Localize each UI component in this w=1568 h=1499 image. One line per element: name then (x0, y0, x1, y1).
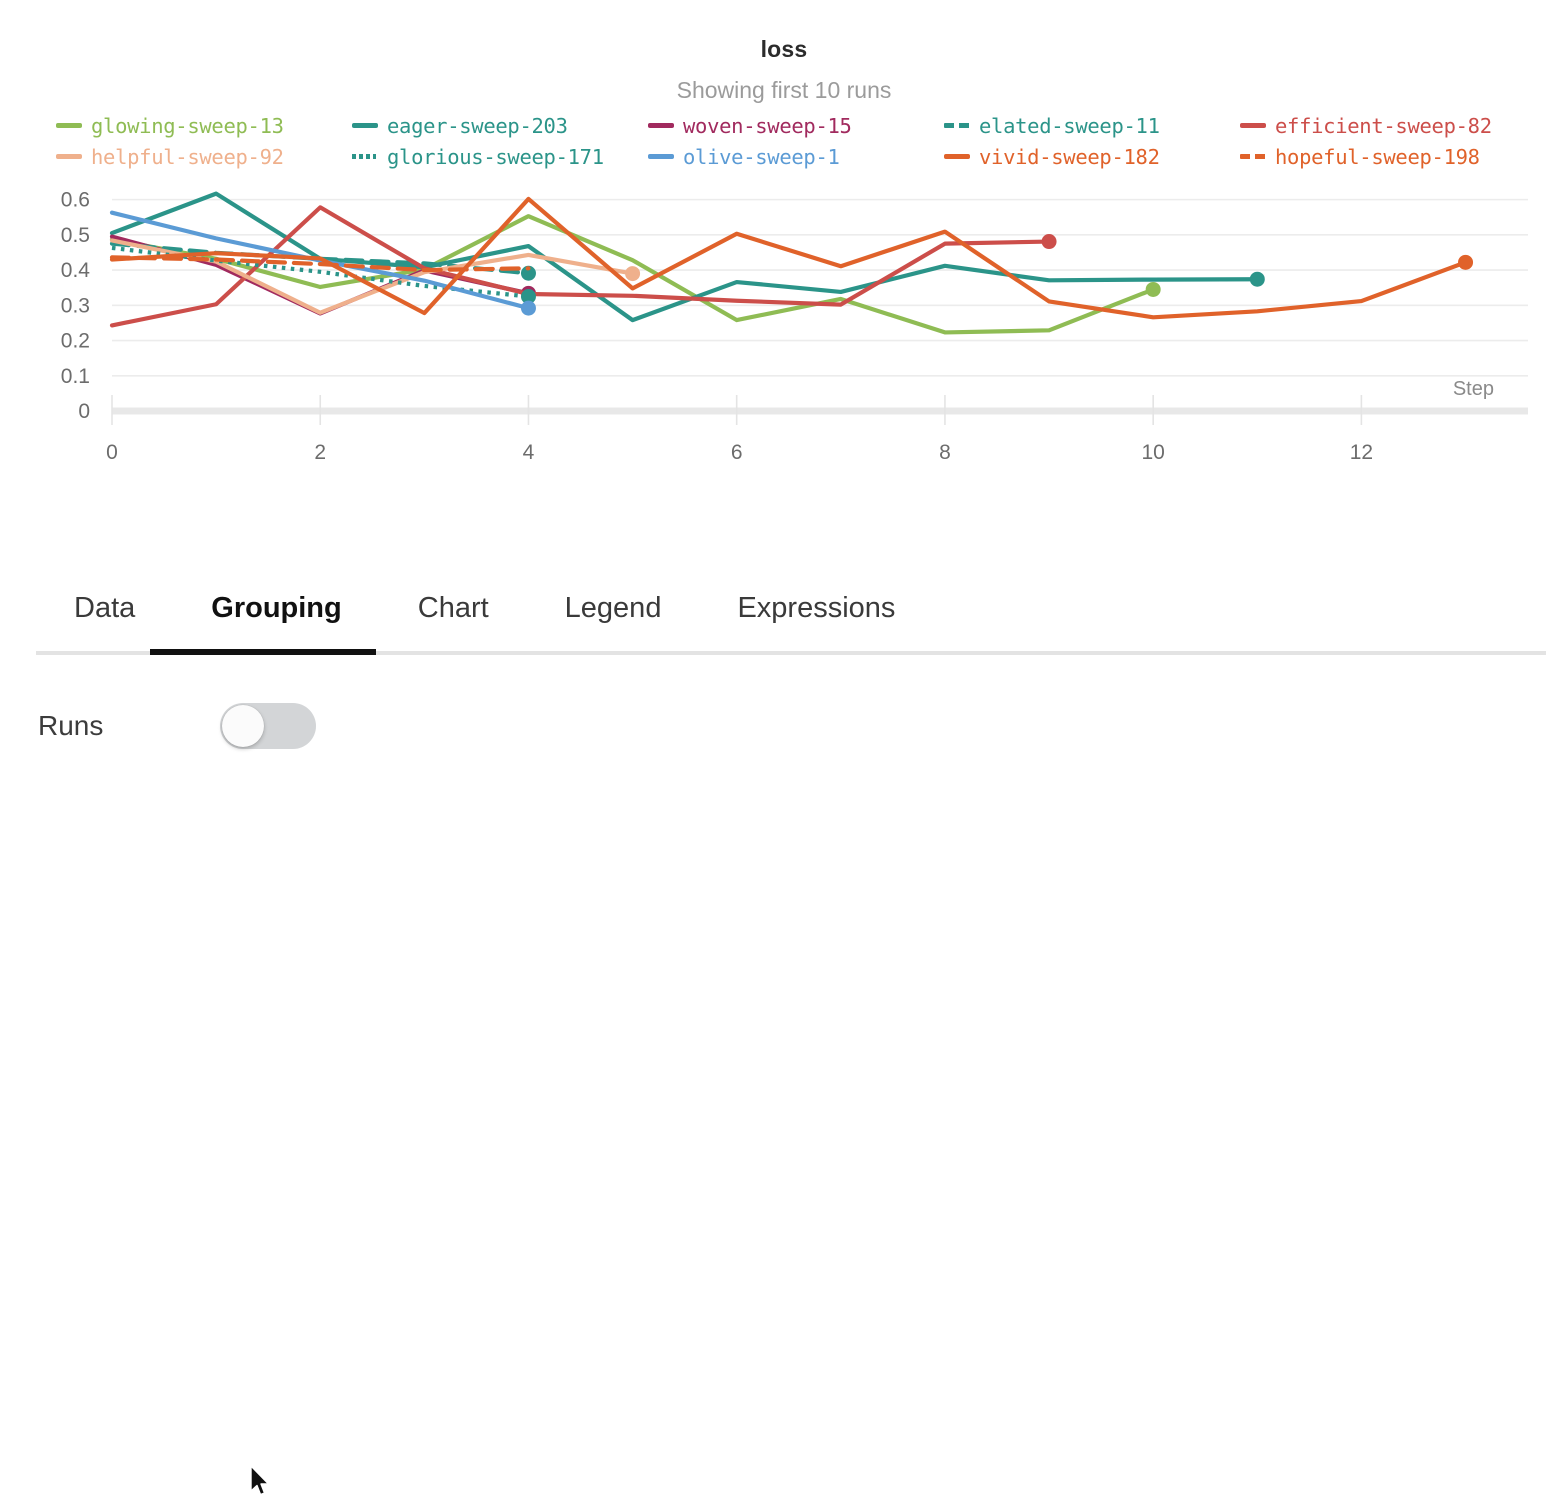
chart-panel: loss Showing first 10 runs glowing-sweep… (0, 0, 1568, 500)
legend-color-swatch (352, 123, 378, 128)
legend-item-label: elated-sweep-11 (979, 114, 1160, 138)
legend-color-swatch (648, 123, 674, 128)
mouse-cursor-icon (249, 1465, 271, 1499)
legend-color-swatch (56, 154, 82, 159)
tab-chart[interactable]: Chart (380, 565, 527, 651)
legend-item[interactable]: glorious-sweep-171 (352, 145, 648, 169)
legend-item[interactable]: woven-sweep-15 (648, 114, 944, 138)
series-endpoint-marker (1042, 234, 1057, 249)
legend-item-label: olive-sweep-1 (683, 145, 840, 169)
x-tick-label: 6 (731, 441, 743, 460)
y-tick-label: 0.3 (61, 294, 90, 317)
legend-item[interactable]: efficient-sweep-82 (1240, 114, 1536, 138)
legend-color-swatch (944, 154, 970, 159)
y-tick-label: 0.2 (61, 330, 90, 353)
settings-tabs-bar: DataGroupingChartLegendExpressions (0, 565, 1568, 660)
x-tick-label: 8 (939, 441, 951, 460)
tab-data[interactable]: Data (36, 565, 173, 651)
series-endpoint-marker (625, 266, 640, 281)
tab-legend[interactable]: Legend (527, 565, 700, 651)
series-endpoint-marker (1250, 272, 1265, 287)
legend-color-swatch (944, 123, 970, 128)
x-tick-label: 12 (1350, 441, 1373, 460)
runs-group-toggle[interactable] (220, 703, 316, 749)
legend-color-swatch (352, 154, 378, 159)
y-tick-label: 0.4 (61, 259, 91, 282)
x-axis-label: Step (1453, 378, 1494, 400)
legend-item[interactable]: helpful-sweep-92 (56, 145, 352, 169)
toggle-knob (222, 705, 264, 747)
x-tick-label: 10 (1141, 441, 1164, 460)
legend-color-swatch (648, 154, 674, 159)
series-endpoint-marker (521, 301, 536, 316)
chart-subtitle: Showing first 10 runs (0, 77, 1568, 104)
tab-expressions[interactable]: Expressions (699, 565, 933, 651)
series-endpoint-marker (1458, 255, 1473, 270)
legend-item[interactable]: elated-sweep-11 (944, 114, 1240, 138)
legend-item[interactable]: eager-sweep-203 (352, 114, 648, 138)
legend-color-swatch (1240, 123, 1266, 128)
legend-item[interactable]: hopeful-sweep-198 (1240, 145, 1536, 169)
y-tick-label: 0.6 (61, 189, 90, 212)
y-tick-label: 0.1 (61, 365, 90, 388)
legend-item[interactable]: glowing-sweep-13 (56, 114, 352, 138)
x-tick-label: 0 (106, 441, 118, 460)
legend-item-label: efficient-sweep-82 (1275, 114, 1492, 138)
legend-item-label: vivid-sweep-182 (979, 145, 1160, 169)
legend-item-label: hopeful-sweep-198 (1275, 145, 1480, 169)
legend-item-label: glorious-sweep-171 (387, 145, 604, 169)
series-endpoint-marker (1146, 282, 1161, 297)
legend-item-label: helpful-sweep-92 (91, 145, 284, 169)
legend-item-label: eager-sweep-203 (387, 114, 568, 138)
y-tick-label: 0 (78, 400, 90, 423)
x-tick-label: 2 (314, 441, 326, 460)
chart-title: loss (0, 36, 1568, 63)
y-tick-label: 0.5 (61, 224, 90, 247)
legend-color-swatch (1240, 154, 1266, 159)
runs-label: Runs (38, 710, 220, 742)
legend-item[interactable]: olive-sweep-1 (648, 145, 944, 169)
settings-tabs: DataGroupingChartLegendExpressions (36, 565, 933, 651)
runs-setting-row: Runs (38, 703, 316, 749)
legend-item[interactable]: vivid-sweep-182 (944, 145, 1240, 169)
chart-legend: glowing-sweep-13eager-sweep-203woven-swe… (56, 110, 1536, 172)
series-line (112, 199, 1466, 317)
line-chart-svg: 00.10.20.30.40.50.6024681012Step (0, 170, 1568, 460)
tab-grouping[interactable]: Grouping (173, 565, 379, 651)
plot-area[interactable]: 00.10.20.30.40.50.6024681012Step (0, 170, 1568, 460)
legend-color-swatch (56, 123, 82, 128)
legend-item-label: glowing-sweep-13 (91, 114, 284, 138)
tab-active-indicator (150, 649, 376, 655)
grouping-panel: Runs (0, 665, 1568, 1095)
x-tick-label: 4 (523, 441, 535, 460)
legend-item-label: woven-sweep-15 (683, 114, 852, 138)
